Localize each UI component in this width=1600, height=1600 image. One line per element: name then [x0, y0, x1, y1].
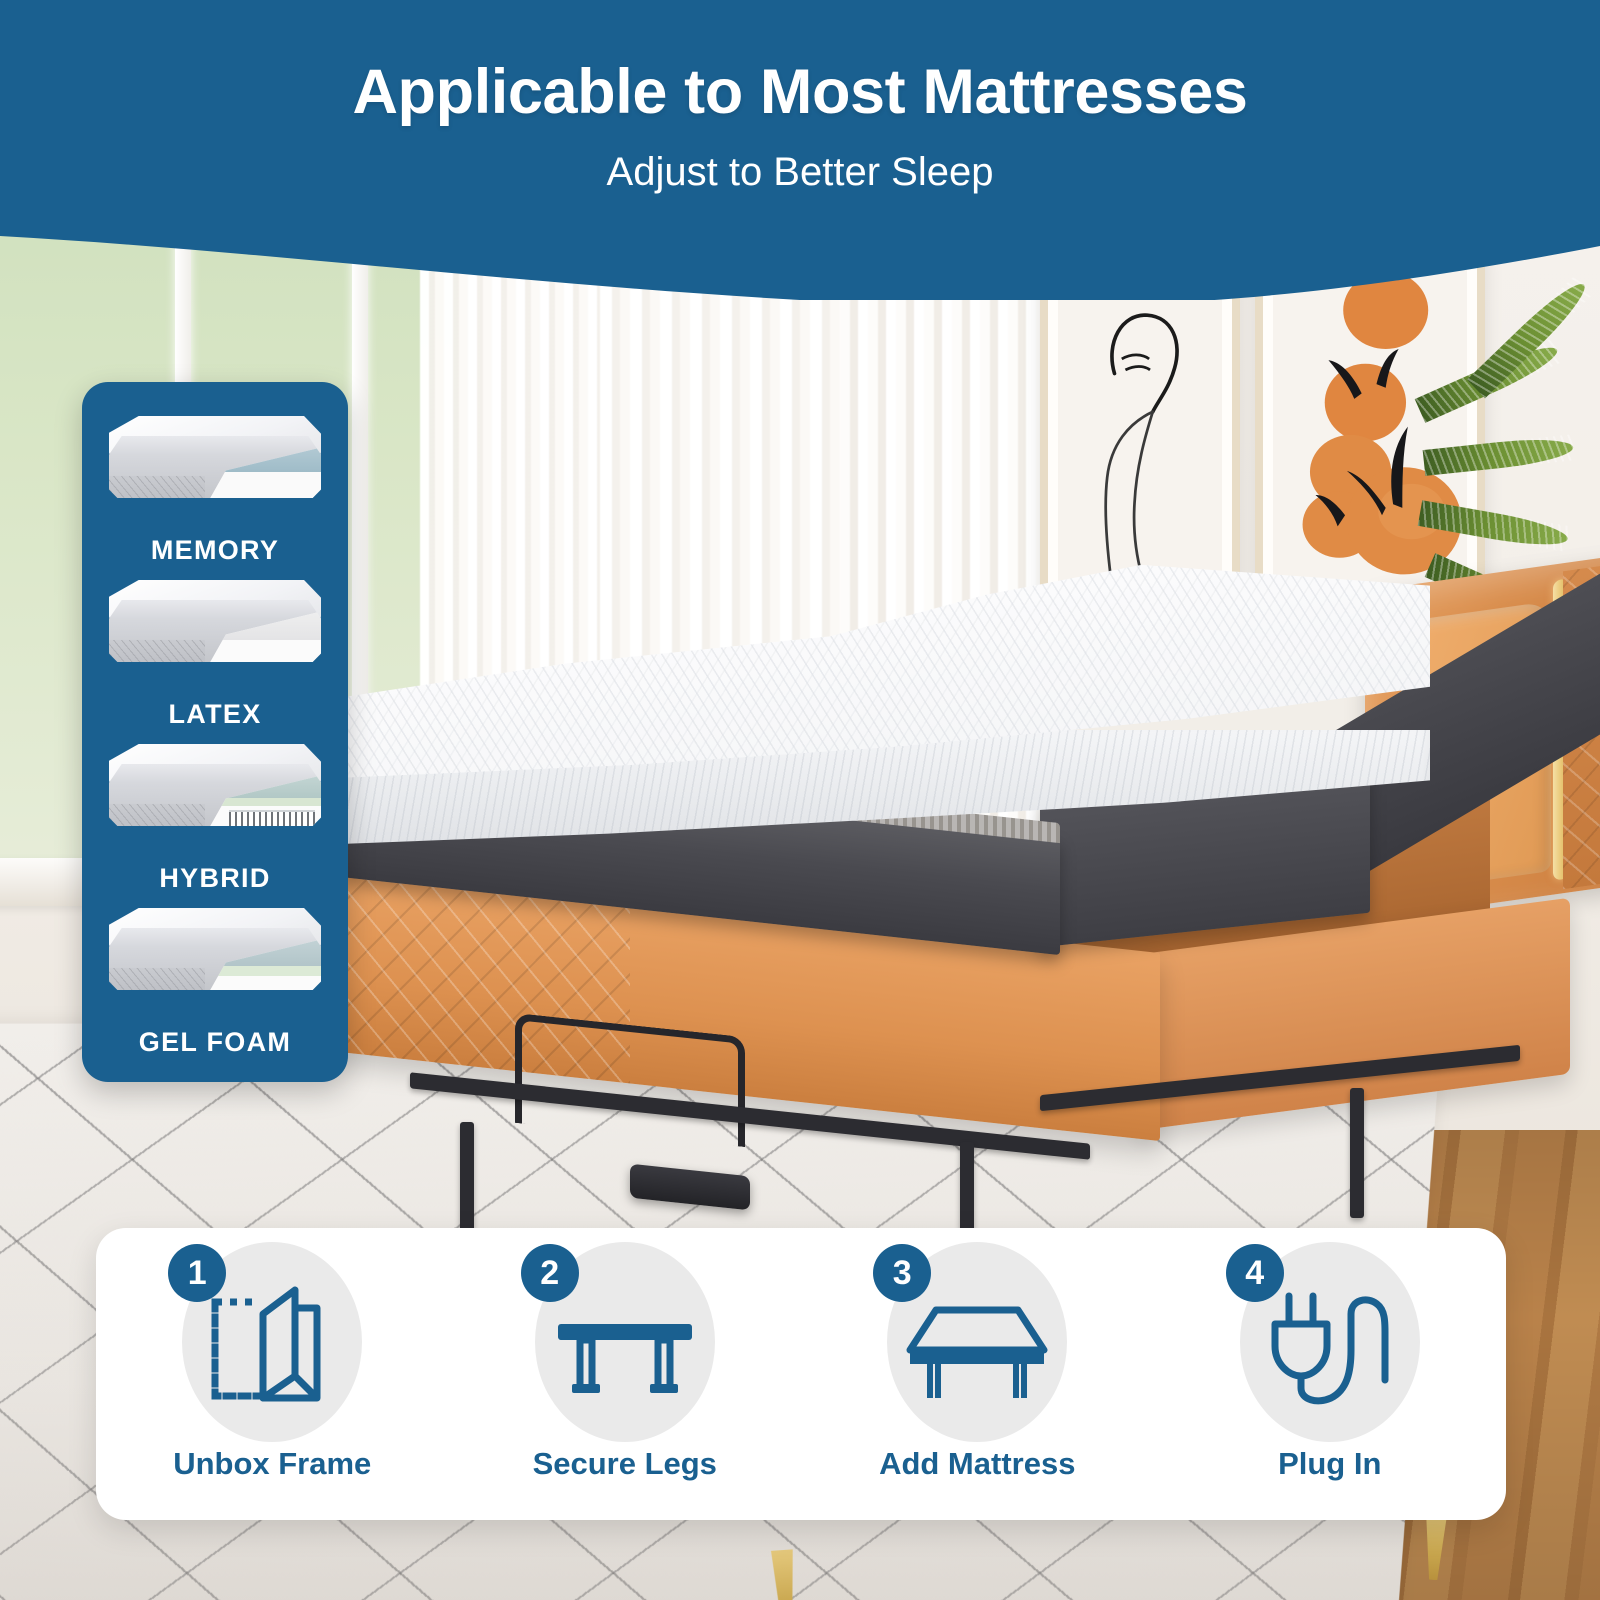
mattress-icon-body — [109, 928, 321, 990]
foam-layer — [199, 640, 321, 682]
mattress-latex-icon — [109, 580, 321, 666]
setup-step-2[interactable]: 2 Secure Legs — [449, 1228, 802, 1520]
step-number-badge: 4 — [1226, 1244, 1284, 1302]
step-number-badge: 3 — [873, 1244, 931, 1302]
mattress-type-gel-foam[interactable]: GEL FOAM — [82, 900, 348, 1064]
step-label: Plug In — [1154, 1446, 1507, 1482]
mattress-type-label: GEL FOAM — [82, 1027, 348, 1058]
setup-step-4[interactable]: 4 Plug In — [1154, 1228, 1507, 1520]
mattress-retainer-bar — [515, 1013, 745, 1147]
mattress-types-panel: MEMORY LATEX — [82, 382, 348, 1082]
open-box-icon — [197, 1280, 347, 1412]
mattress-icon-fabric — [109, 640, 205, 682]
mattress-icon-body — [109, 764, 321, 826]
page-title: Applicable to Most Mattresses — [0, 56, 1600, 128]
frame-support-leg — [1350, 1088, 1364, 1218]
mattress-type-label: HYBRID — [82, 863, 348, 894]
step-label: Add Mattress — [801, 1446, 1154, 1482]
mattress-icon-cutaway — [199, 938, 321, 1010]
mattress-icon-cutaway — [199, 610, 321, 682]
product-infographic: Applicable to Most Mattresses Adjust to … — [0, 0, 1600, 1600]
power-plug-icon — [1255, 1280, 1405, 1412]
lift-motor — [630, 1164, 750, 1211]
mattress-icon-cutaway — [199, 446, 321, 518]
page-subtitle: Adjust to Better Sleep — [0, 150, 1600, 195]
memory-foam-mattress — [320, 480, 1500, 900]
mattress-type-hybrid[interactable]: HYBRID — [82, 736, 348, 900]
setup-steps-card: 1 Unbox Frame 2 — [96, 1228, 1506, 1520]
mattress-hybrid-icon — [109, 744, 321, 830]
frame-support-leg — [460, 1122, 474, 1242]
foam-layer — [199, 798, 321, 806]
mattress-memory-icon — [109, 416, 321, 502]
mattress-gel-foam-icon — [109, 908, 321, 994]
innerspring-coils — [229, 810, 315, 840]
adjustable-bed — [300, 470, 1600, 1230]
mattress-icon-fabric — [109, 476, 205, 518]
mattress-type-latex[interactable]: LATEX — [82, 572, 348, 736]
mattress-icon-body — [109, 436, 321, 498]
mattress-icon-fabric — [109, 804, 205, 846]
foam-layer — [199, 966, 321, 976]
step-label: Unbox Frame — [96, 1446, 449, 1482]
foam-layer — [199, 610, 321, 640]
foam-layer — [199, 976, 321, 1010]
foam-layer — [199, 446, 321, 472]
mattress-icon-fabric — [109, 968, 205, 1010]
setup-step-3[interactable]: 3 Add Mattress — [801, 1228, 1154, 1520]
foam-layer — [199, 938, 321, 966]
step-number-badge: 2 — [521, 1244, 579, 1302]
mattress-icon-cutaway — [199, 774, 321, 846]
mattress-type-label: MEMORY — [82, 535, 348, 566]
foam-layer — [199, 774, 321, 798]
mattress-type-memory[interactable]: MEMORY — [82, 408, 348, 572]
mattress-on-frame-icon — [902, 1280, 1052, 1412]
foam-layer — [199, 472, 321, 518]
mattress-icon-body — [109, 600, 321, 662]
bed-legs-icon — [550, 1280, 700, 1412]
step-number-badge: 1 — [168, 1244, 226, 1302]
setup-step-1[interactable]: 1 Unbox Frame — [96, 1228, 449, 1520]
mattress-type-label: LATEX — [82, 699, 348, 730]
step-label: Secure Legs — [449, 1446, 802, 1482]
